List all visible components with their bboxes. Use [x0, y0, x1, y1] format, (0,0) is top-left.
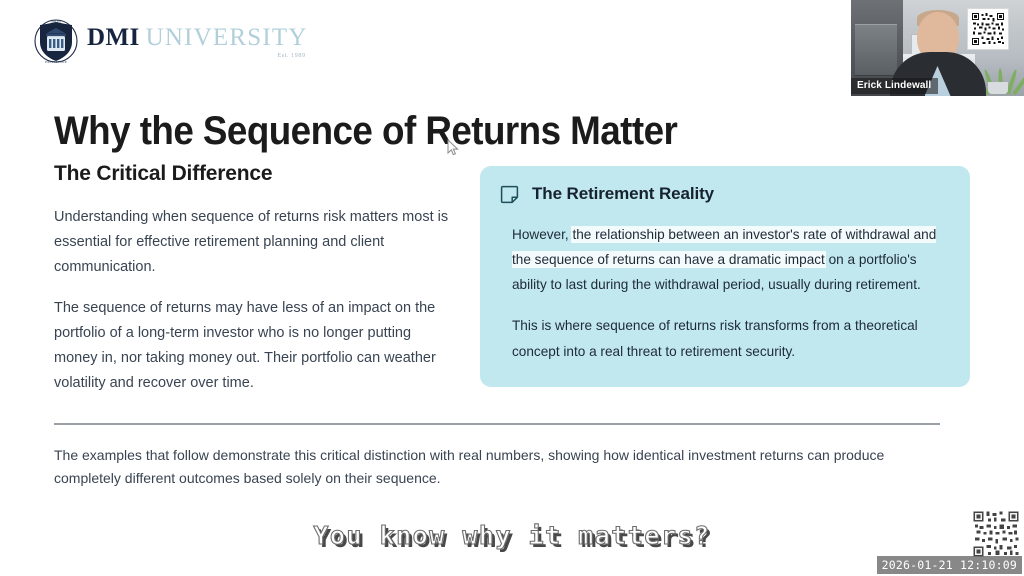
brand-logo: SALES EXCELLENCE DMI UNIVERSITY Est. 198…: [34, 18, 308, 64]
page-title: Why the Sequence of Returns Matter: [54, 109, 677, 154]
brand-name-secondary: UNIVERSITY: [146, 25, 308, 50]
left-content-column: The Critical Difference Understanding wh…: [54, 162, 452, 397]
sticky-note-icon: [500, 185, 519, 204]
brand-name-primary: DMI: [87, 25, 140, 50]
brand-wordmark: DMI UNIVERSITY Est. 1989: [87, 23, 308, 59]
watermark-qr-code-icon: [972, 510, 1020, 558]
dmi-shield-icon: SALES EXCELLENCE: [34, 18, 78, 64]
left-paragraph-1: Understanding when sequence of returns r…: [54, 205, 452, 280]
retirement-reality-card: The Retirement Reality However, the rela…: [480, 166, 970, 387]
card-paragraph-2: This is where sequence of returns risk t…: [512, 313, 946, 363]
webcam-plant-pot: [988, 82, 1008, 94]
webcam-qr-code-icon: [967, 8, 1009, 50]
left-paragraph-2: The sequence of returns may have less of…: [54, 296, 452, 396]
svg-text:EXCELLENCE: EXCELLENCE: [45, 60, 67, 64]
card-body: However, the relationship between an inv…: [500, 222, 946, 364]
video-caption: You know why it matters?: [0, 521, 1024, 550]
slide-canvas: SALES EXCELLENCE DMI UNIVERSITY Est. 198…: [0, 0, 1024, 576]
webcam-plant: [984, 54, 1020, 94]
section-heading: The Critical Difference: [54, 162, 452, 186]
card-p1-lead: However,: [512, 227, 572, 242]
svg-text:SALES: SALES: [51, 20, 61, 24]
card-title: The Retirement Reality: [532, 184, 714, 204]
section-divider: [54, 423, 940, 425]
brand-established: Est. 1989: [278, 53, 306, 59]
footer-paragraph: The examples that follow demonstrate thi…: [54, 444, 946, 490]
webcam-speaker-name: Erick Lindewall: [851, 78, 938, 94]
card-paragraph-1: However, the relationship between an inv…: [512, 222, 946, 297]
recording-timestamp: 2026-01-21 12:10:09: [877, 556, 1022, 574]
webcam-overlay[interactable]: Erick Lindewall: [851, 0, 1024, 96]
card-header: The Retirement Reality: [500, 184, 946, 204]
